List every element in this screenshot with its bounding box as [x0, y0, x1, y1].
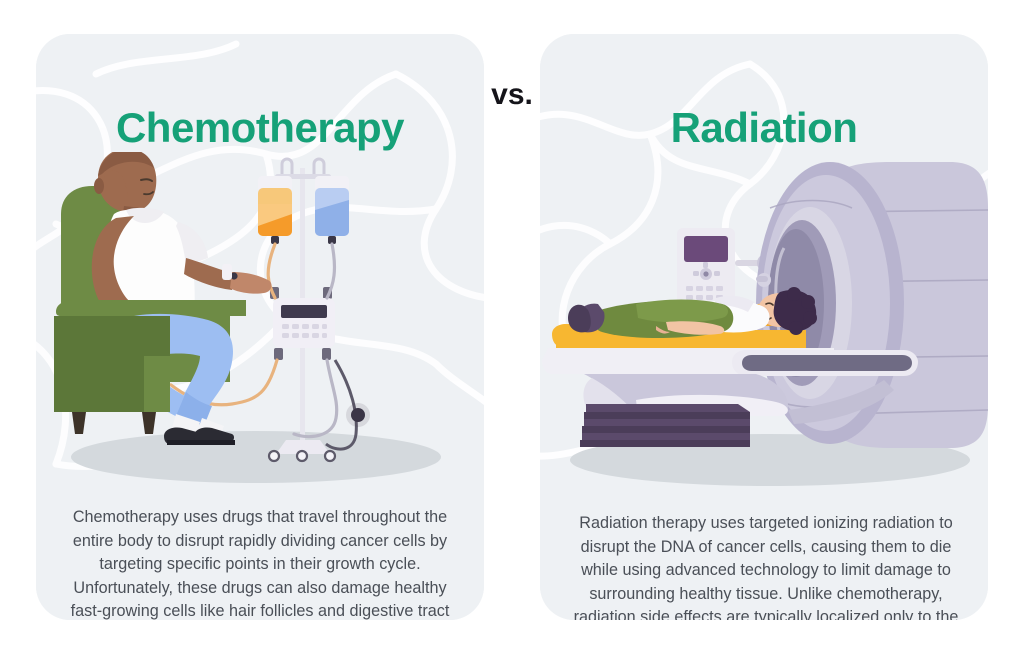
step-platform — [580, 404, 750, 447]
infographic-canvas: Chemotherapy — [0, 0, 1024, 662]
card-title-chemotherapy: Chemotherapy — [36, 104, 484, 152]
vs-label: vs. — [484, 78, 540, 112]
illustration-radiation — [540, 152, 988, 500]
patient-shoes — [568, 304, 605, 333]
floor-shadow — [71, 431, 441, 483]
card-body-chemotherapy: Chemotherapy uses drugs that travel thro… — [58, 506, 462, 620]
illustration-chemotherapy — [36, 152, 484, 500]
monitor-screen — [684, 236, 728, 262]
iv-bag-blue — [315, 176, 349, 244]
comparison-card-radiation: Radiation — [540, 34, 988, 620]
card-body-radiation: Radiation therapy uses targeted ionizing… — [566, 512, 966, 620]
card-title-radiation: Radiation — [540, 104, 988, 152]
iv-bag-orange — [258, 176, 292, 244]
comparison-card-chemotherapy: Chemotherapy — [36, 34, 484, 620]
iv-pole-wheels — [269, 451, 335, 461]
